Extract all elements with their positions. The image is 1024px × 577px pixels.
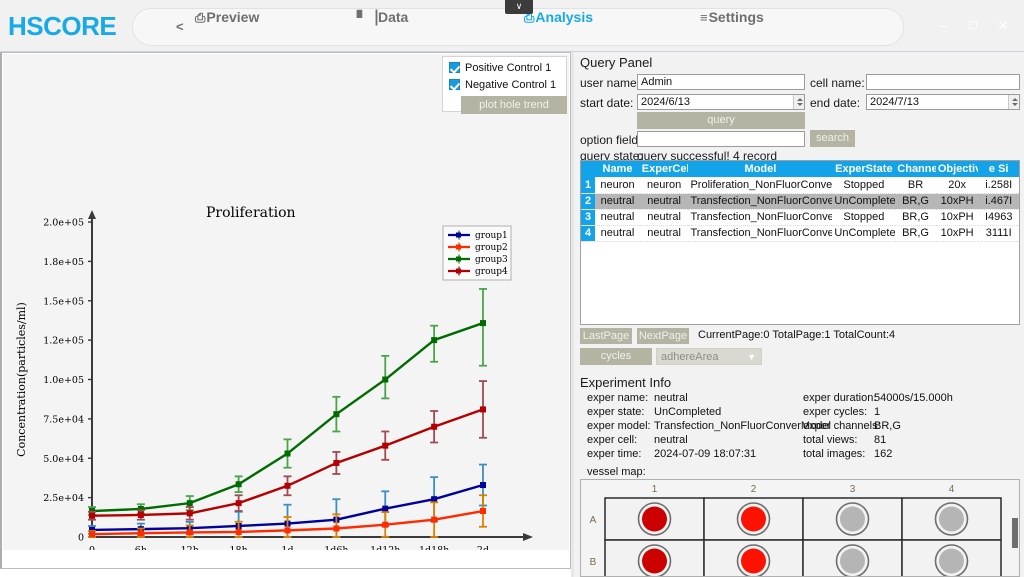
vessel-well-A3[interactable] <box>840 507 865 532</box>
table-cell-size: I4963 <box>978 209 1019 225</box>
y-tick-label: 5.0e+04 <box>43 454 84 465</box>
table-cell-empty <box>978 257 1019 273</box>
cycles-button[interactable]: cycles <box>580 348 652 365</box>
table-cell-model: Transfection_NonFluorConverModel <box>688 209 832 225</box>
table-cell-empty <box>595 241 640 257</box>
table-cell-name: neuron <box>595 177 640 193</box>
x-tick-label: 12h <box>181 545 199 550</box>
query-panel-title: Query Panel <box>580 55 652 70</box>
vessel-well-A4[interactable] <box>939 507 964 532</box>
chart-legend: group1group2group3group4 <box>443 226 511 280</box>
start-date-label: start date: <box>580 96 633 110</box>
cell-name-input[interactable] <box>866 74 1020 90</box>
table-cell-empty <box>581 257 595 273</box>
table-col-index[interactable] <box>581 161 595 177</box>
plot-area: Proliferation02.5e+045.0e+047.5e+041.0e+… <box>3 54 569 550</box>
table-cell-empty <box>832 289 895 305</box>
table-cell-empty <box>581 305 595 321</box>
option-field-input[interactable] <box>637 131 805 147</box>
table-cell-empty <box>595 289 640 305</box>
table-col-name[interactable]: Name <box>595 161 640 177</box>
chevron-down-icon[interactable]: ▼ <box>747 349 756 366</box>
table-cell-empty <box>688 241 832 257</box>
pagination-info: CurrentPage:0 TotalPage:1 TotalCount:4 <box>698 329 895 341</box>
table-cell-empty <box>978 273 1019 289</box>
table-row-empty <box>581 305 1019 321</box>
table-cell-empty <box>832 305 895 321</box>
option-field-label: option field: <box>580 133 641 147</box>
x-tick-label: 1d6h <box>324 545 348 550</box>
table-cell-channels: BR <box>895 177 936 193</box>
table-cell-empty <box>640 257 689 273</box>
table-col-model[interactable]: Model <box>688 161 832 177</box>
table-cell-size: i.467I <box>978 193 1019 209</box>
table-cell-index: 4 <box>581 225 595 241</box>
table-cell-empty <box>595 257 640 273</box>
vessel-map[interactable]: 1234AB <box>580 479 1020 577</box>
search-button[interactable]: search <box>810 130 855 147</box>
table-col-objective[interactable]: Objective <box>936 161 979 177</box>
table-row[interactable]: 2neutralneutralTransfection_NonFluorConv… <box>581 193 1019 209</box>
table-col-size[interactable]: e Si <box>978 161 1019 177</box>
exper-info-right-value-0: 54000s/15.000h <box>874 392 953 404</box>
table-cell-experstate: UnCompleted <box>832 225 895 241</box>
table-cell-index: 2 <box>581 193 595 209</box>
vessel-well-B2[interactable] <box>741 549 766 574</box>
table-row-empty <box>581 241 1019 257</box>
vessel-col-header-2: 2 <box>751 484 757 495</box>
y-tick-label: 2.0e+05 <box>43 218 84 229</box>
table-cell-empty <box>895 257 936 273</box>
table-cell-empty <box>595 273 640 289</box>
table-row[interactable]: 1neuronneuronProliferation_NonFluorConve… <box>581 177 1019 193</box>
table-cell-model: Transfection_NonFluorConverModel <box>688 193 832 209</box>
exper-info-right-label-2: exper channels: <box>803 420 881 432</box>
exper-info-right-label-0: exper duration: <box>803 392 876 404</box>
y-tick-label: 0 <box>78 533 84 544</box>
legend-label-group4: group4 <box>475 267 508 277</box>
exper-info-right-label-1: exper cycles: <box>803 406 867 418</box>
table-cell-empty <box>640 241 689 257</box>
x-tick-label: 1d12h <box>370 545 400 550</box>
query-button[interactable]: query <box>637 112 805 129</box>
vessel-map-label: vessel map: <box>587 466 646 478</box>
y-tick-label: 1.2e+05 <box>43 336 84 347</box>
table-cell-objective: 10xPH <box>936 193 979 209</box>
start-date-input[interactable]: 2024/6/13 <box>637 94 805 110</box>
table-cell-empty <box>595 305 640 321</box>
chart-footer-space <box>3 551 569 568</box>
table-cell-objective: 20x <box>936 177 979 193</box>
table-cell-size: 3111I <box>978 225 1019 241</box>
x-tick-label: 2d <box>477 545 489 550</box>
table-row-empty <box>581 257 1019 273</box>
maximize-button[interactable]: ☐ <box>960 16 986 36</box>
minimize-button[interactable]: – <box>930 16 956 36</box>
app-logo: HSCORE <box>8 11 116 42</box>
vessel-well-A1[interactable] <box>642 507 667 532</box>
vessel-well-B4[interactable] <box>939 549 964 574</box>
table-cell-empty <box>832 273 895 289</box>
vessel-col-header-3: 3 <box>850 484 856 495</box>
table-cell-empty <box>978 321 1019 337</box>
legend-label-group2: group2 <box>475 243 508 253</box>
start-date-value: 2024/6/13 <box>641 96 690 108</box>
legend-label-group1: group1 <box>475 231 508 241</box>
checkbox-positive-control-1-label: Positive Control 1 <box>465 62 551 74</box>
checkbox-icon[interactable] <box>449 79 460 90</box>
table-cell-empty <box>895 241 936 257</box>
last-page-button[interactable]: LastPage <box>580 328 632 344</box>
exper-info-right-value-4: 162 <box>874 448 892 460</box>
vessel-row-header-A: A <box>590 515 597 526</box>
table-cell-empty <box>688 257 832 273</box>
close-button[interactable]: ✕ <box>990 16 1016 36</box>
exper-info-left-label-3: exper cell: <box>587 434 637 446</box>
table-cell-experstate: Stopped <box>832 209 895 225</box>
table-cell-objective: 10xPH <box>936 209 979 225</box>
table-col-expercell[interactable]: ExperCell <box>640 161 689 177</box>
table-cell-empty <box>936 305 979 321</box>
checkbox-positive-control-1[interactable]: Positive Control 1 <box>449 62 551 77</box>
table-cell-empty <box>832 257 895 273</box>
collapse-toggle[interactable]: ∨ <box>505 0 533 14</box>
table-cell-name: neutral <box>595 193 640 209</box>
table-cell-empty <box>936 321 979 337</box>
tab-settings[interactable]: ≡Settings <box>700 9 764 31</box>
exper-info-left-value-3: neutral <box>654 434 688 446</box>
table-cell-empty <box>978 289 1019 305</box>
table-row[interactable]: 4neutralneutralTransfection_NonFluorConv… <box>581 225 1019 241</box>
exper-info-right-value-2: BR,G <box>874 420 901 432</box>
table-cell-empty <box>895 321 936 337</box>
exper-info-left-label-1: exper state: <box>587 406 644 418</box>
cell-name-label: cell name: <box>810 76 865 90</box>
table-cell-empty <box>936 289 979 305</box>
table-cell-empty <box>936 273 979 289</box>
exper-info-left-label-4: exper time: <box>587 448 641 460</box>
end-date-input[interactable]: 2024/7/13 <box>866 94 1020 110</box>
table-cell-channels: BR,G <box>895 225 936 241</box>
table-cell-empty <box>936 241 979 257</box>
table-row[interactable]: 3neutralneutralTransfection_NonFluorConv… <box>581 209 1019 225</box>
table-cell-name: neutral <box>595 209 640 225</box>
vessel-well-B3[interactable] <box>840 549 865 574</box>
table-cell-expercell: neutral <box>640 225 689 241</box>
vessel-map-scrollbar[interactable] <box>1012 518 1018 548</box>
exper-info-right-label-4: total images: <box>803 448 865 460</box>
preview-icon: ⎙ <box>195 10 205 25</box>
table-cell-model: Proliferation_NonFluorConverModel <box>688 177 832 193</box>
tab-analysis[interactable]: ⎙Analysis <box>524 9 593 31</box>
table-cell-empty <box>688 305 832 321</box>
end-date-label: end date: <box>810 96 860 110</box>
table-cell-empty <box>640 273 689 289</box>
table-cell-channels: BR,G <box>895 209 936 225</box>
y-tick-label: 2.5e+04 <box>43 493 84 504</box>
exper-info-left-value-4: 2024-07-09 18:07:31 <box>654 448 756 460</box>
bar-chart-icon: ▘▕ <box>357 10 377 25</box>
sliders-icon: ≡ <box>700 10 708 25</box>
tab-preview[interactable]: ⎙Preview <box>195 9 259 31</box>
adhere-area-select[interactable]: adhereArea ▼ <box>656 348 762 365</box>
table-cell-empty <box>581 273 595 289</box>
y-axis-label: Concentration(particles/ml) <box>15 302 28 457</box>
table-cell-experstate: UnCompleted <box>832 193 895 209</box>
table-cell-index: 1 <box>581 177 595 193</box>
y-tick-label: 1.8e+05 <box>43 257 84 268</box>
table-cell-empty <box>978 305 1019 321</box>
table-cell-expercell: neutral <box>640 193 689 209</box>
proliferation-chart: Proliferation02.5e+045.0e+047.5e+041.0e+… <box>3 54 569 550</box>
table-cell-name: neutral <box>595 225 640 241</box>
table-cell-expercell: neutral <box>640 209 689 225</box>
exper-info-right-value-3: 81 <box>874 434 886 446</box>
table-cell-empty <box>895 305 936 321</box>
plot-hole-trend-button[interactable]: plot hole trend <box>461 96 567 114</box>
checkbox-negative-control-1-label: Negative Control 1 <box>465 79 556 91</box>
tab-data-label: Data <box>378 9 408 25</box>
table-cell-experstate: Stopped <box>832 177 895 193</box>
back-arrow-icon[interactable]: < <box>176 19 184 34</box>
y-tick-label: 1.0e+05 <box>43 375 84 386</box>
table-cell-index: 3 <box>581 209 595 225</box>
chart-title: Proliferation <box>206 205 296 221</box>
table-cell-empty <box>688 289 832 305</box>
x-tick-label: 18h <box>230 545 248 550</box>
results-table[interactable]: Name ExperCell Model ExperState Channels… <box>580 160 1020 325</box>
exper-info-left-label-0: exper name: <box>587 392 648 404</box>
table-cell-size: i.258I <box>978 177 1019 193</box>
x-tick-label: 0 <box>89 545 95 550</box>
table-row-empty <box>581 289 1019 305</box>
table-col-channels[interactable]: Channels <box>895 161 936 177</box>
table-cell-expercell: neuron <box>640 177 689 193</box>
next-page-button[interactable]: NextPage <box>637 328 689 344</box>
x-tick-label: 1d <box>281 545 293 550</box>
start-date-spinner-icon[interactable] <box>793 95 804 109</box>
vessel-map-grid[interactable]: 1234AB <box>581 480 1019 576</box>
table-header-row: Name ExperCell Model ExperState Channels… <box>581 161 1019 177</box>
tab-data[interactable]: ▘▕Data <box>357 9 408 31</box>
tab-preview-label: Preview <box>206 9 259 25</box>
table-cell-empty <box>640 289 689 305</box>
legend-label-group3: group3 <box>475 255 508 265</box>
title-bar: HSCORE < ⎙Preview ▘▕Data ⎙Analysis ≡Sett… <box>0 0 1024 52</box>
user-name-label: user name: <box>580 76 640 90</box>
y-tick-label: 1.5e+05 <box>43 296 84 307</box>
user-name-input[interactable]: Admin <box>637 74 805 90</box>
table-cell-empty <box>936 257 979 273</box>
table-cell-empty <box>581 241 595 257</box>
table-cell-channels: BR,G <box>895 193 936 209</box>
experiment-info-title: Experiment Info <box>580 375 671 390</box>
chart-panel: Proliferation02.5e+045.0e+047.5e+041.0e+… <box>0 52 571 569</box>
right-panel: Query Panel user name: Admin cell name: … <box>574 52 1024 577</box>
tab-analysis-label: Analysis <box>535 9 593 25</box>
table-cell-objective: 10xPH <box>936 225 979 241</box>
application-window: HSCORE < ⎙Preview ▘▕Data ⎙Analysis ≡Sett… <box>0 0 1024 577</box>
vessel-well-B1[interactable] <box>642 549 667 574</box>
table-cell-empty <box>832 241 895 257</box>
x-tick-label: 1d18h <box>419 545 449 550</box>
adhere-area-select-value: adhereArea <box>661 351 719 363</box>
exper-info-left-value-0: neutral <box>654 392 688 404</box>
checkbox-negative-control-1[interactable]: Negative Control 1 <box>449 79 556 94</box>
table-cell-empty <box>688 273 832 289</box>
exper-info-right-value-1: 1 <box>874 406 880 418</box>
end-date-value: 2024/7/13 <box>870 96 919 108</box>
window-controls: – ☐ ✕ <box>930 16 1020 38</box>
checkbox-icon[interactable] <box>449 62 460 73</box>
table-cell-empty <box>640 305 689 321</box>
table-row-empty <box>581 273 1019 289</box>
exper-info-right-label-3: total views: <box>803 434 857 446</box>
vessel-col-header-4: 4 <box>949 484 955 495</box>
table-cell-empty <box>895 273 936 289</box>
vessel-row-header-B: B <box>590 557 597 568</box>
exper-info-left-value-1: UnCompleted <box>654 406 721 418</box>
exper-info-left-label-2: exper model: <box>587 420 651 432</box>
x-tick-label: 6h <box>135 545 147 550</box>
table-col-experstate[interactable]: ExperState <box>832 161 895 177</box>
vessel-well-A2[interactable] <box>741 507 766 532</box>
y-tick-label: 7.5e+04 <box>43 414 84 425</box>
tab-settings-label: Settings <box>709 9 764 25</box>
vessel-col-header-1: 1 <box>652 484 658 495</box>
table-cell-model: Transfection_NonFluorConverModel <box>688 225 832 241</box>
table-cell-empty <box>581 289 595 305</box>
table-cell-empty <box>978 241 1019 257</box>
end-date-spinner-icon[interactable] <box>1008 95 1019 109</box>
table-cell-empty <box>895 289 936 305</box>
